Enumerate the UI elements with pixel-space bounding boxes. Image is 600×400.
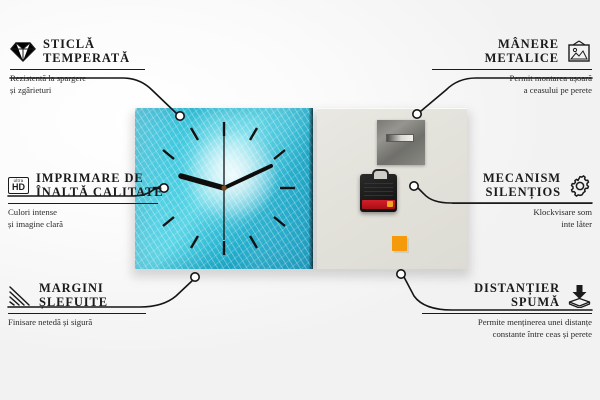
feature-title-line2: SPUMĂ — [474, 296, 560, 310]
feature-title-line2: ÎNALTĂ CALITATE — [36, 186, 164, 200]
mechanism-hook — [372, 169, 389, 179]
feature-title-line2: TEMPERATĂ — [43, 52, 130, 66]
feature-subtitle: Rezistentă la spargere și zgârieturi — [10, 73, 145, 96]
foam-spacer-part — [392, 236, 407, 251]
feature-polished-edges[interactable]: MARGINI ȘLEFUITE Finisare netedă și sigu… — [8, 282, 146, 329]
feature-rule — [452, 203, 592, 204]
feature-title-line2: ȘLEFUITE — [39, 296, 108, 310]
diagonal-lines-icon — [8, 285, 32, 307]
feature-sub-line2: și imagine clară — [8, 219, 158, 230]
feature-title-line1: DISTANȚIER — [474, 282, 560, 296]
feature-title: MÂNERE METALICE — [485, 38, 559, 65]
feature-sub-line1: Klockvisare som — [452, 207, 592, 218]
feature-foam-spacer[interactable]: DISTANȚIER SPUMĂ Permite menținerea unei… — [422, 282, 592, 340]
feature-title-line1: MÂNERE — [485, 38, 559, 52]
feature-rule — [422, 313, 592, 314]
feature-subtitle: Permite menținerea unei distanțe constan… — [422, 317, 592, 340]
feature-sub-line2: inte låter — [452, 219, 592, 230]
metal-hanger-part — [377, 120, 425, 165]
feature-title: DISTANȚIER SPUMĂ — [474, 282, 560, 309]
feature-rule — [10, 69, 145, 70]
down-arrow-stack-icon — [567, 284, 592, 308]
feature-sub-line2: a ceasului pe perete — [432, 85, 592, 96]
diamond-icon — [10, 41, 36, 63]
feature-sub-line1: Culori intense — [8, 207, 158, 218]
feature-sub-line2: constante între ceas și perete — [422, 329, 592, 340]
feature-title: MARGINI ȘLEFUITE — [39, 282, 108, 309]
feature-heading: ultra HD IMPRIMARE DE ÎNALTĂ CALITATE — [8, 172, 158, 199]
battery — [362, 200, 395, 209]
feature-title-line2: METALICE — [485, 52, 559, 66]
feature-subtitle: Permit montarea ușoară a ceasului pe per… — [432, 73, 592, 96]
feature-title: MECANISM SILENȚIOS — [483, 172, 561, 199]
feature-sub-line1: Finisare netedă și sigură — [8, 317, 146, 328]
feature-sub-line2: și zgârieturi — [10, 85, 145, 96]
feature-rule — [8, 313, 146, 314]
feature-title-line1: MARGINI — [39, 282, 108, 296]
feature-subtitle: Culori intense și imagine clară — [8, 207, 158, 230]
feature-subtitle: Klockvisare som inte låter — [452, 207, 592, 230]
feature-title-line2: SILENȚIOS — [483, 186, 561, 200]
mechanism-detail — [364, 180, 393, 196]
gear-icon — [568, 174, 592, 198]
ultra-hd-icon-large-text: HD — [12, 183, 25, 192]
feature-rule — [432, 69, 592, 70]
feature-sub-line1: Permite menținerea unei distanțe — [422, 317, 592, 328]
clock-mechanism-part — [360, 174, 397, 212]
feature-title-line1: STICLĂ — [43, 38, 130, 52]
feature-title-line1: MECANISM — [483, 172, 561, 186]
feature-title: STICLĂ TEMPERATĂ — [43, 38, 130, 65]
feature-sub-line1: Rezistentă la spargere — [10, 73, 145, 84]
feature-silent-mechanism[interactable]: MECANISM SILENȚIOS Klockvisare som inte … — [452, 172, 592, 230]
picture-frame-hanger-icon — [566, 40, 592, 63]
infographic-canvas: STICLĂ TEMPERATĂ Rezistentă la spargere … — [0, 0, 600, 400]
feature-title-line1: IMPRIMARE DE — [36, 172, 164, 186]
hanger-slot — [386, 134, 414, 142]
feature-metal-handles[interactable]: MÂNERE METALICE Permit montarea ușoară a… — [432, 38, 592, 96]
feature-high-quality-print[interactable]: ultra HD IMPRIMARE DE ÎNALTĂ CALITATE Cu… — [8, 172, 158, 230]
feature-title: IMPRIMARE DE ÎNALTĂ CALITATE — [36, 172, 164, 199]
feature-heading: STICLĂ TEMPERATĂ — [10, 38, 145, 65]
feature-heading: MARGINI ȘLEFUITE — [8, 282, 146, 309]
product-photo — [135, 108, 467, 271]
feature-heading: MECANISM SILENȚIOS — [452, 172, 592, 199]
feature-sub-line1: Permit montarea ușoară — [432, 73, 592, 84]
feature-tempered-glass[interactable]: STICLĂ TEMPERATĂ Rezistentă la spargere … — [10, 38, 145, 96]
ultra-hd-icon: ultra HD — [8, 177, 29, 194]
feature-heading: DISTANȚIER SPUMĂ — [422, 282, 592, 309]
feature-subtitle: Finisare netedă și sigură — [8, 317, 146, 328]
feature-heading: MÂNERE METALICE — [432, 38, 592, 65]
clock-back-panel — [317, 108, 467, 269]
feature-rule — [8, 203, 158, 204]
